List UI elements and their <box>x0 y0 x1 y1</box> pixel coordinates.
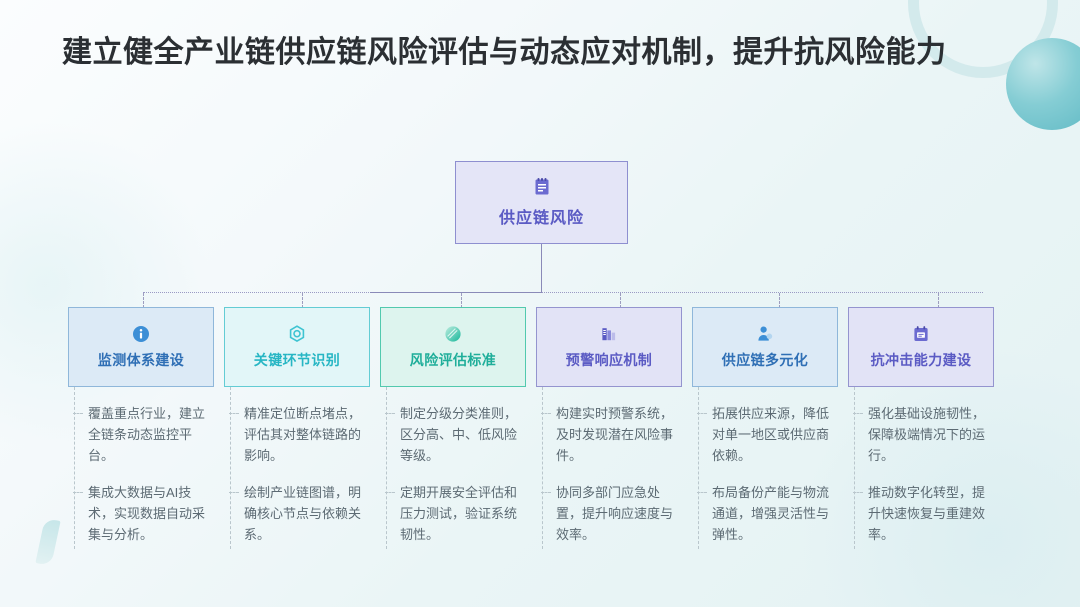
root-node-label: 供应链风险 <box>499 204 584 228</box>
branch-card-label: 风险评估标准 <box>410 350 496 370</box>
bullet-item: 协同多部门应急处置，提升响应速度与效率。 <box>556 482 682 545</box>
branch-column-3: 风险评估标准 制定分级分类准则，区分高、中、低风险等级。 定期开展安全评估和压力… <box>380 307 526 561</box>
clipboard-icon <box>532 177 552 197</box>
branch-bullets-3: 制定分级分类准则，区分高、中、低风险等级。 定期开展安全评估和压力测试，验证系统… <box>380 387 526 561</box>
branch-column-5: 供应链多元化 拓展供应来源，降低对单一地区或供应商依赖。 布局备份产能与物流通道… <box>692 307 838 561</box>
bullet-item: 强化基础设施韧性，保障极端情况下的运行。 <box>868 403 994 466</box>
root-node-supply-chain-risk[interactable]: 供应链风险 <box>455 161 628 244</box>
branch-bullets-2: 精准定位断点堵点，评估其对整体链路的影响。 绘制产业链图谱，明确核心节点与依赖关… <box>224 387 370 561</box>
bullet-item: 集成大数据与AI技术，实现数据自动采集与分析。 <box>88 482 214 545</box>
branch-column-6: 抗冲击能力建设 强化基础设施韧性，保障极端情况下的运行。 推动数字化转型，提升快… <box>848 307 994 561</box>
branch-column-4: 预警响应机制 构建实时预警系统，及时发现潜在风险事件。 协同多部门应急处置，提升… <box>536 307 682 561</box>
decorative-sphere <box>1006 38 1080 130</box>
connector-drop-6 <box>938 293 939 308</box>
branch-column-1: 监测体系建设 覆盖重点行业，建立全链条动态监控平台。 集成大数据与AI技术，实现… <box>68 307 214 561</box>
info-circle-icon <box>131 324 151 344</box>
bullet-item: 推动数字化转型，提升快速恢复与重建效率。 <box>868 482 994 545</box>
hexagon-icon <box>287 324 307 344</box>
bullet-item: 布局备份产能与物流通道，增强灵活性与弹性。 <box>712 482 838 545</box>
branch-card-label: 关键环节识别 <box>254 350 340 370</box>
branch-card-label: 供应链多元化 <box>722 350 808 370</box>
bullet-item: 制定分级分类准则，区分高、中、低风险等级。 <box>400 403 526 466</box>
branch-column-2: 关键环节识别 精准定位断点堵点，评估其对整体链路的影响。 绘制产业链图谱，明确核… <box>224 307 370 561</box>
branch-card-label: 监测体系建设 <box>98 350 184 370</box>
branch-card-label: 抗冲击能力建设 <box>871 350 972 370</box>
branch-card-shock-resistance[interactable]: 抗冲击能力建设 <box>848 307 994 387</box>
branch-card-early-warning-response[interactable]: 预警响应机制 <box>536 307 682 387</box>
calendar-icon <box>911 324 931 344</box>
connector-drop-1 <box>143 293 144 308</box>
page-title: 建立健全产业链供应链风险评估与动态应对机制，提升抗风险能力 <box>62 32 1017 75</box>
bullet-item: 覆盖重点行业，建立全链条动态监控平台。 <box>88 403 214 466</box>
bullet-item: 定期开展安全评估和压力测试，验证系统韧性。 <box>400 482 526 545</box>
connector-drop-5 <box>779 293 780 308</box>
branch-card-supply-chain-diversification[interactable]: 供应链多元化 <box>692 307 838 387</box>
branch-card-monitoring-system[interactable]: 监测体系建设 <box>68 307 214 387</box>
connector-drop-3 <box>461 293 462 308</box>
branch-card-key-node-identification[interactable]: 关键环节识别 <box>224 307 370 387</box>
connector-drop-4 <box>620 293 621 308</box>
branch-card-risk-assessment-standard[interactable]: 风险评估标准 <box>380 307 526 387</box>
decorative-leaf <box>35 518 60 566</box>
connector-bus-solid <box>370 292 542 293</box>
bullet-item: 拓展供应来源，降低对单一地区或供应商依赖。 <box>712 403 838 466</box>
branch-bullets-4: 构建实时预警系统，及时发现潜在风险事件。 协同多部门应急处置，提升响应速度与效率… <box>536 387 682 561</box>
branch-columns: 监测体系建设 覆盖重点行业，建立全链条动态监控平台。 集成大数据与AI技术，实现… <box>68 307 1016 561</box>
bar-chart-icon <box>599 324 619 344</box>
connector-root-stem <box>541 244 542 293</box>
gradient-circle-icon <box>443 324 463 344</box>
branch-bullets-5: 拓展供应来源，降低对单一地区或供应商依赖。 布局备份产能与物流通道，增强灵活性与… <box>692 387 838 561</box>
branch-card-label: 预警响应机制 <box>566 350 652 370</box>
branch-bullets-6: 强化基础设施韧性，保障极端情况下的运行。 推动数字化转型，提升快速恢复与重建效率… <box>848 387 994 561</box>
bullet-item: 绘制产业链图谱，明确核心节点与依赖关系。 <box>244 482 370 545</box>
connector-drop-2 <box>302 293 303 308</box>
bullet-item: 精准定位断点堵点，评估其对整体链路的影响。 <box>244 403 370 466</box>
bullet-item: 构建实时预警系统，及时发现潜在风险事件。 <box>556 403 682 466</box>
connector-bus-dotted <box>143 292 983 293</box>
branch-bullets-1: 覆盖重点行业，建立全链条动态监控平台。 集成大数据与AI技术，实现数据自动采集与… <box>68 387 214 561</box>
person-icon <box>755 324 775 344</box>
